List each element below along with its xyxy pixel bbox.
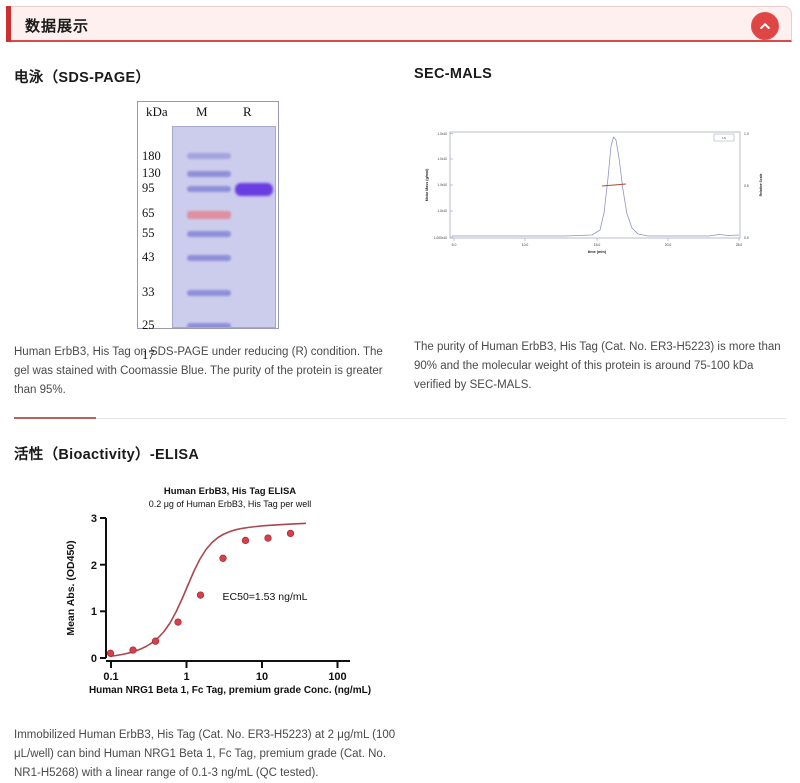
svg-text:2: 2 xyxy=(91,560,97,572)
ladder-label-180: 180 xyxy=(142,149,161,164)
sample-band-lane-r xyxy=(235,183,273,196)
ladder-band-95 xyxy=(187,186,231,192)
elisa-chart: Human ErbB3, His Tag ELISA 0.2 μg of Hum… xyxy=(60,480,400,695)
ladder-band-55 xyxy=(187,231,231,237)
elisa-xlabel: Human NRG1 Beta 1, Fc Tag, premium grade… xyxy=(89,685,371,695)
sds-page-title: 电泳（SDS-PAGE） xyxy=(14,66,400,87)
sds-page-gel-figure: kDa M R 180 130 95 65 55 43 33 xyxy=(14,101,400,333)
elisa-figure: Human ErbB3, His Tag ELISA 0.2 μg of Hum… xyxy=(14,480,786,710)
elisa-ec50-annotation: EC50=1.53 ng/mL xyxy=(223,591,308,603)
panel-header: 数据展示 xyxy=(6,6,792,42)
ladder-label-33: 33 xyxy=(142,285,155,300)
ladder-band-33 xyxy=(187,290,231,296)
ladder-band-130 xyxy=(187,171,231,177)
svg-text:5.0: 5.0 xyxy=(452,243,457,247)
data-display-page: 数据展示 电泳（SDS-PAGE） kDa M R xyxy=(0,6,800,776)
gel-lane-m-header: M xyxy=(196,104,208,120)
sec-mals-title: SEC-MALS xyxy=(414,66,786,82)
svg-text:10: 10 xyxy=(256,671,268,683)
gel-lane-headers: kDa M R xyxy=(138,104,278,124)
sec-mals-caption: The purity of Human ErbB3, His Tag (Cat.… xyxy=(414,338,786,395)
svg-text:20.0: 20.0 xyxy=(665,243,672,247)
bioactivity-section: 活性（Bioactivity）-ELISA Human ErbB3, His T… xyxy=(14,443,786,783)
svg-text:1.0x10: 1.0x10 xyxy=(437,132,447,136)
ladder-label-95: 95 xyxy=(142,181,155,196)
sds-page-caption: Human ErbB3, His Tag on SDS-PAGE under r… xyxy=(14,343,400,400)
sec-mals-section: SEC-MALS 1.0x10 1.0x10 1.0x10 xyxy=(400,42,786,400)
svg-text:time (min): time (min) xyxy=(588,250,607,254)
svg-text:0.1: 0.1 xyxy=(103,671,118,683)
bioactivity-title: 活性（Bioactivity）-ELISA xyxy=(14,443,786,464)
svg-text:10.0: 10.0 xyxy=(522,243,529,247)
section-divider xyxy=(14,418,786,419)
sds-page-section: 电泳（SDS-PAGE） kDa M R 180 130 95 xyxy=(14,42,400,400)
svg-text:1.0x10: 1.0x10 xyxy=(437,183,447,187)
svg-text:3: 3 xyxy=(91,513,97,525)
svg-text:1: 1 xyxy=(183,671,189,683)
gel-lane-r-header: R xyxy=(243,104,252,120)
svg-text:1.0x10: 1.0x10 xyxy=(437,209,447,213)
svg-text:0.0: 0.0 xyxy=(744,236,749,240)
panel-body: 电泳（SDS-PAGE） kDa M R 180 130 95 xyxy=(0,42,800,783)
elisa-chart-subtitle: 0.2 μg of Human ErbB3, His Tag per well xyxy=(149,499,312,509)
svg-text:0: 0 xyxy=(91,653,97,665)
svg-text:25.0: 25.0 xyxy=(736,243,743,247)
top-section-row: 电泳（SDS-PAGE） kDa M R 180 130 95 xyxy=(14,42,786,400)
gel-box: kDa M R 180 130 95 65 55 43 33 xyxy=(137,101,279,329)
svg-text:15.0: 15.0 xyxy=(594,243,601,247)
chevron-up-icon xyxy=(758,19,772,33)
ladder-band-65 xyxy=(187,211,231,219)
elisa-ylabel: Mean Abs. (OD450) xyxy=(65,540,77,635)
svg-text:1.0: 1.0 xyxy=(744,132,749,136)
svg-text:LS: LS xyxy=(722,136,726,140)
ladder-label-65: 65 xyxy=(142,206,155,221)
ladder-label-43: 43 xyxy=(142,250,155,265)
svg-text:100: 100 xyxy=(328,671,346,683)
gel-lanes-area xyxy=(172,126,276,328)
ladder-label-130: 130 xyxy=(142,166,161,181)
elisa-chart-title: Human ErbB3, His Tag ELISA xyxy=(164,486,296,497)
gel-kda-header: kDa xyxy=(146,104,168,120)
ladder-label-55: 55 xyxy=(142,226,155,241)
ladder-band-180 xyxy=(187,153,231,159)
svg-text:1.000x10: 1.000x10 xyxy=(434,236,447,240)
ladder-band-25 xyxy=(187,323,231,328)
svg-text:0.5: 0.5 xyxy=(744,184,749,188)
sec-mals-figure: 1.0x10 1.0x10 1.0x10 1.0x10 1.000x10 xyxy=(414,96,786,328)
ladder-band-43 xyxy=(187,255,231,261)
collapse-panel-button[interactable] xyxy=(751,12,779,40)
ladder-label-25: 25 xyxy=(142,318,155,333)
svg-text:1.0x10: 1.0x10 xyxy=(437,157,447,161)
svg-text:1: 1 xyxy=(91,606,97,618)
svg-text:Molar Mass (g/mol): Molar Mass (g/mol) xyxy=(425,168,429,201)
bioactivity-caption: Immobilized Human ErbB3, His Tag (Cat. N… xyxy=(14,726,414,783)
ladder-label-17: 17 xyxy=(142,348,155,363)
page-title: 数据展示 xyxy=(25,15,89,36)
sec-mals-chart: 1.0x10 1.0x10 1.0x10 1.0x10 1.000x10 xyxy=(414,118,774,268)
svg-text:Relative Scale: Relative Scale xyxy=(759,173,763,196)
